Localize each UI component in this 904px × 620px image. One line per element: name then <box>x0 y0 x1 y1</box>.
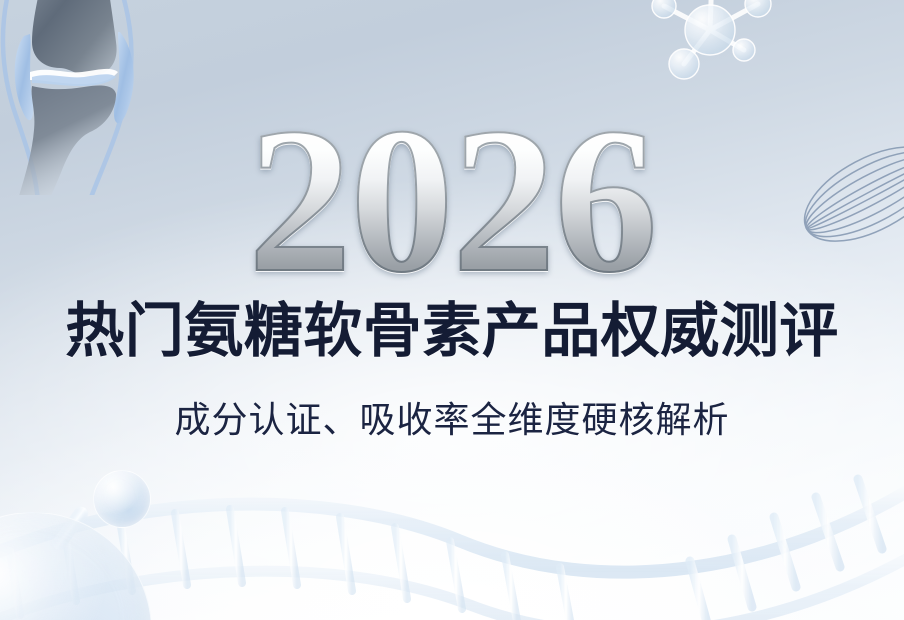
page-subtitle: 成分认证、吸收率全维度硬核解析 <box>0 398 904 441</box>
bubble-small <box>93 470 151 528</box>
dna-helix-icon <box>0 455 904 620</box>
page-title: 热门氨糖软骨素产品权威测评 <box>0 300 904 363</box>
bubble-large <box>0 512 152 620</box>
year-text: 2026 <box>248 96 656 304</box>
year-block: 2026 <box>0 96 904 304</box>
molecule-icon <box>640 0 780 100</box>
poster-canvas: 2026 热门氨糖软骨素产品权威测评 成分认证、吸收率全维度硬核解析 <box>0 0 904 620</box>
bubble-connector <box>50 504 91 553</box>
